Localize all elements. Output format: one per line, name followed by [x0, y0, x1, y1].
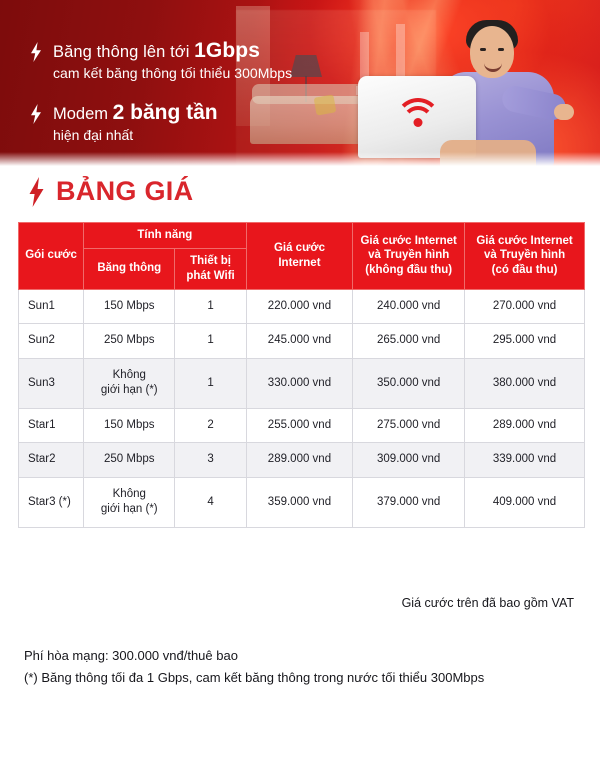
bullet-1-lead: Băng thông lên tới [53, 43, 194, 61]
pillow-decor [314, 94, 337, 115]
th-bandwidth: Băng thông [84, 248, 175, 289]
cell-tv-with-receiver: 270.000 vnd [465, 289, 585, 324]
th-features-group: Tính năng [84, 223, 247, 249]
th-tv-with-receiver-line3: (có đầu thu) [467, 263, 582, 278]
cell-devices: 1 [175, 289, 246, 324]
promo-banner: Băng thông lên tới 1Gbps cam kết băng th… [0, 0, 600, 168]
table-row: Sun2 250 Mbps 1 245.000 vnd 265.000 vnd … [19, 324, 585, 359]
table-header-row-1: Gói cước Tính năng Giá cước Internet Giá… [19, 223, 585, 249]
banner-bullet-1-text: Băng thông lên tới 1Gbps cam kết băng th… [53, 38, 292, 83]
cell-package: Sun3 [19, 358, 84, 408]
cell-internet-price: 255.000 vnd [246, 408, 353, 443]
cell-internet-price: 330.000 vnd [246, 358, 353, 408]
pricing-table: Gói cước Tính năng Giá cước Internet Giá… [18, 222, 585, 528]
cell-bandwidth: 150 Mbps [84, 289, 175, 324]
section-title: BẢNG GIÁ [28, 176, 193, 207]
th-wifi-device-line1: Thiết bị [177, 254, 243, 269]
cell-devices: 3 [175, 443, 246, 478]
cell-package: Star3 (*) [19, 477, 84, 527]
th-internet-price-line1: Giá cước [249, 241, 351, 256]
table-row: Star3 (*) Không giới hạn (*) 4 359.000 v… [19, 477, 585, 527]
cell-package: Star2 [19, 443, 84, 478]
th-tv-with-receiver: Giá cước Internet và Truyền hình (có đầu… [465, 223, 585, 290]
bullet-1-sub: cam kết băng thông tối thiểu 300Mbps [53, 65, 292, 83]
cell-tv-with-receiver: 409.000 vnd [465, 477, 585, 527]
th-package: Gói cước [19, 223, 84, 290]
th-internet-price: Giá cước Internet [246, 223, 353, 290]
table-row: Sun1 150 Mbps 1 220.000 vnd 240.000 vnd … [19, 289, 585, 324]
th-wifi-device: Thiết bị phát Wifi [175, 248, 246, 289]
cell-devices: 1 [175, 324, 246, 359]
page-title: BẢNG GIÁ [56, 176, 193, 207]
cell-package: Sun2 [19, 324, 84, 359]
cell-devices: 2 [175, 408, 246, 443]
cell-tv-no-receiver: 350.000 vnd [353, 358, 465, 408]
cell-internet-price: 220.000 vnd [246, 289, 353, 324]
th-tv-with-receiver-line1: Giá cước Internet [467, 234, 582, 249]
table-row: Star2 250 Mbps 3 289.000 vnd 309.000 vnd… [19, 443, 585, 478]
cell-bandwidth-line2: giới hạn (*) [87, 502, 171, 518]
cell-package: Star1 [19, 408, 84, 443]
cell-internet-price: 359.000 vnd [246, 477, 353, 527]
th-internet-price-line2: Internet [249, 256, 351, 271]
bullet-2-strong: 2 băng tần [113, 101, 218, 124]
cell-tv-no-receiver: 240.000 vnd [353, 289, 465, 324]
cell-bandwidth: 150 Mbps [84, 408, 175, 443]
table-row: Star1 150 Mbps 2 255.000 vnd 275.000 vnd… [19, 408, 585, 443]
banner-bullet-1: Băng thông lên tới 1Gbps cam kết băng th… [30, 38, 292, 83]
th-tv-no-receiver: Giá cước Internet và Truyền hình (không … [353, 223, 465, 290]
bandwidth-footnote: (*) Băng thông tối đa 1 Gbps, cam kết bă… [24, 667, 484, 689]
table-body: Sun1 150 Mbps 1 220.000 vnd 240.000 vnd … [19, 289, 585, 527]
cell-bandwidth: 250 Mbps [84, 324, 175, 359]
banner-bullet-list: Băng thông lên tới 1Gbps cam kết băng th… [30, 38, 292, 162]
cell-internet-price: 289.000 vnd [246, 443, 353, 478]
cell-tv-no-receiver: 265.000 vnd [353, 324, 465, 359]
cell-tv-with-receiver: 295.000 vnd [465, 324, 585, 359]
bullet-2-sub: hiện đại nhất [53, 127, 218, 145]
cell-bandwidth: 250 Mbps [84, 443, 175, 478]
cell-tv-with-receiver: 339.000 vnd [465, 443, 585, 478]
cell-devices: 1 [175, 358, 246, 408]
th-tv-no-receiver-line3: (không đầu thu) [355, 263, 462, 278]
bullet-1-strong: 1Gbps [194, 39, 260, 62]
banner-bullet-2: Modem 2 băng tần hiện đại nhất [30, 100, 292, 145]
cell-bandwidth: Không giới hạn (*) [84, 358, 175, 408]
vat-note: Giá cước trên đã bao gồm VAT [402, 596, 574, 610]
bolt-icon [30, 104, 42, 124]
wifi-icon [398, 98, 438, 132]
th-wifi-device-line2: phát Wifi [177, 269, 243, 284]
cell-tv-with-receiver: 289.000 vnd [465, 408, 585, 443]
cell-tv-with-receiver: 380.000 vnd [465, 358, 585, 408]
cell-bandwidth: Không giới hạn (*) [84, 477, 175, 527]
cell-tv-no-receiver: 309.000 vnd [353, 443, 465, 478]
bolt-icon [30, 42, 42, 62]
cell-package: Sun1 [19, 289, 84, 324]
cell-bandwidth-line2: giới hạn (*) [87, 383, 171, 399]
cell-devices: 4 [175, 477, 246, 527]
th-tv-with-receiver-line2: và Truyền hình [467, 248, 582, 263]
table-header: Gói cước Tính năng Giá cước Internet Giá… [19, 223, 585, 290]
bullet-2-lead: Modem [53, 105, 113, 123]
bolt-icon [28, 177, 45, 207]
cell-bandwidth-line1: Không [87, 487, 171, 503]
cell-bandwidth-line1: Không [87, 368, 171, 384]
table-row: Sun3 Không giới hạn (*) 1 330.000 vnd 35… [19, 358, 585, 408]
banner-bullet-2-text: Modem 2 băng tần hiện đại nhất [53, 100, 218, 145]
th-tv-no-receiver-line2: và Truyền hình [355, 248, 462, 263]
th-tv-no-receiver-line1: Giá cước Internet [355, 234, 462, 249]
installation-fee-note: Phí hòa mạng: 300.000 vnđ/thuê bao [24, 645, 484, 667]
cell-tv-no-receiver: 379.000 vnd [353, 477, 465, 527]
cell-tv-no-receiver: 275.000 vnd [353, 408, 465, 443]
footer-notes: Phí hòa mạng: 300.000 vnđ/thuê bao (*) B… [24, 645, 484, 690]
cell-internet-price: 245.000 vnd [246, 324, 353, 359]
